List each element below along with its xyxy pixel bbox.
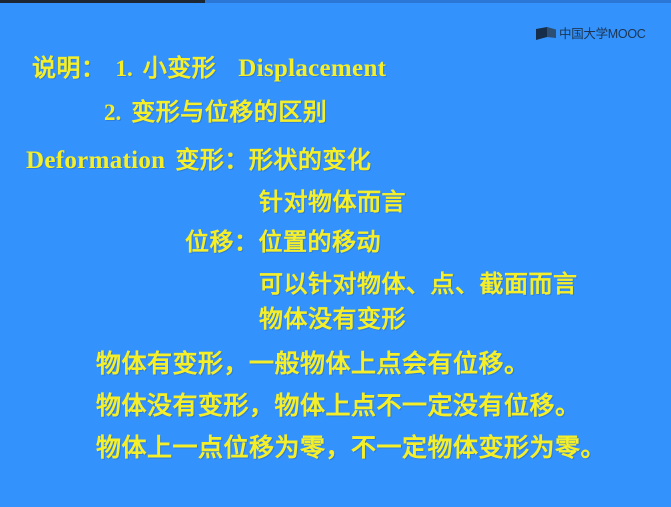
displacement-description: 位置的移动 xyxy=(259,227,382,256)
deformation-line: Deformation变形：形状的变化 xyxy=(26,140,371,175)
deformation-term: 变形： xyxy=(175,145,249,174)
heading-item-2-number: 2. xyxy=(104,100,121,125)
heading-item-2-text: 变形与位移的区别 xyxy=(131,97,327,126)
heading-line-2: 2.变形与位移的区别 xyxy=(104,92,327,127)
book-icon xyxy=(536,27,556,41)
heading-item-1-text: 小变形 xyxy=(143,53,217,82)
slide-canvas: 中国大学MOOC 说明：1.小变形Displacement 2.变形与位移的区别… xyxy=(0,0,671,507)
heading-item-1-number: 1. xyxy=(116,56,133,81)
displacement-term: 位移： xyxy=(185,227,259,256)
deformation-english: Deformation xyxy=(26,147,165,174)
slide-top-edge xyxy=(0,0,671,3)
displacement-note-1: 可以针对物体、点、截面而言 xyxy=(259,264,578,299)
heading-line-1: 说明：1.小变形Displacement xyxy=(32,48,386,83)
heading-item-1-english: Displacement xyxy=(238,55,386,82)
conclusion-line-2: 物体没有变形，物体上点不一定没有位移。 xyxy=(96,386,581,422)
conclusion-line-3: 物体上一点位移为零，不一定物体变形为零。 xyxy=(96,428,606,464)
displacement-note-2: 物体没有变形 xyxy=(259,299,406,334)
deformation-note: 针对物体而言 xyxy=(259,182,406,217)
heading-label: 说明： xyxy=(32,53,106,82)
deformation-description: 形状的变化 xyxy=(249,145,372,174)
displacement-line: 位移：位置的移动 xyxy=(185,222,381,257)
conclusion-line-1: 物体有变形，一般物体上点会有位移。 xyxy=(96,344,530,380)
mooc-brand-text: 中国大学MOOC xyxy=(559,27,646,41)
mooc-watermark: 中国大学MOOC xyxy=(536,27,646,41)
